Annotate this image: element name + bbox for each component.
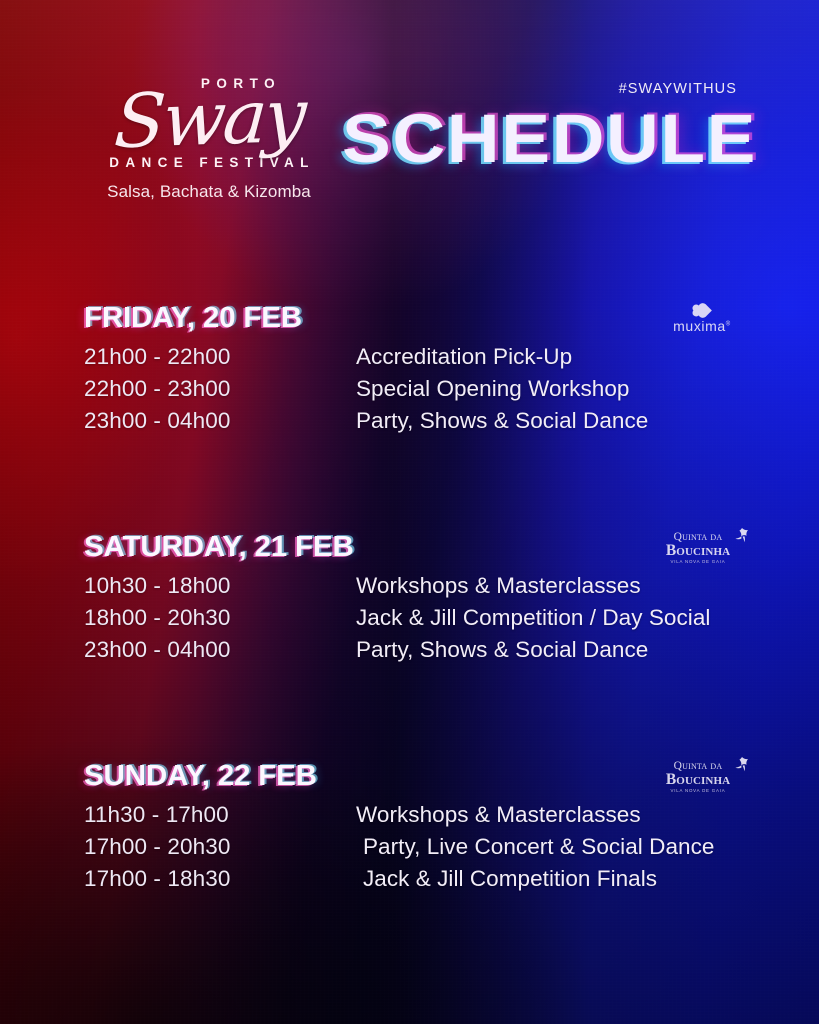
logo-sway-script: Sway — [71, 80, 347, 157]
logo-dance-styles-line: Salsa, Bachata & Kizomba — [74, 182, 344, 202]
festival-logo: PORTO Sway DANCE FESTIVAL Salsa, Bachata… — [74, 76, 344, 202]
day-rows: 11h30 - 17h00 Workshops & Masterclasses … — [0, 802, 819, 898]
sponsor-location-line: VILA NOVA DE GAIA — [655, 560, 741, 564]
sponsor-wordmark-top: Quinta da — [674, 760, 723, 772]
sponsor-line-quinta-da: Quinta da — [655, 761, 741, 773]
row-time: 22h00 - 23h00 — [84, 376, 230, 402]
row-activity: Jack & Jill Competition / Day Social — [356, 605, 710, 631]
row-time: 18h00 - 20h30 — [84, 605, 230, 631]
sponsor-wordmark-bottom: Boucinha — [655, 543, 741, 559]
schedule-row: 10h30 - 18h00 Workshops & Masterclasses — [0, 573, 819, 605]
row-activity: Party, Shows & Social Dance — [356, 637, 648, 663]
schedule-row: 17h00 - 20h30 Party, Live Concert & Soci… — [0, 834, 819, 866]
row-time: 17h00 - 20h30 — [84, 834, 230, 860]
schedule-row: 17h00 - 18h30 Jack & Jill Competition Fi… — [0, 866, 819, 898]
day-rows: 10h30 - 18h00 Workshops & Masterclasses … — [0, 573, 819, 669]
sponsor-wordmark-bottom: Boucinha — [655, 772, 741, 788]
day-heading: SATURDAY, 21 FEB — [84, 531, 354, 564]
festival-schedule-poster: PORTO Sway DANCE FESTIVAL Salsa, Bachata… — [0, 0, 819, 1024]
row-time: 17h00 - 18h30 — [84, 866, 230, 892]
row-activity: Special Opening Workshop — [356, 376, 629, 402]
row-activity: Party, Live Concert & Social Dance — [363, 834, 714, 860]
schedule-row: 23h00 - 04h00 Party, Shows & Social Danc… — [0, 408, 819, 440]
row-time: 23h00 - 04h00 — [84, 408, 230, 434]
poster-content: PORTO Sway DANCE FESTIVAL Salsa, Bachata… — [0, 0, 819, 1024]
row-activity: Party, Shows & Social Dance — [356, 408, 648, 434]
schedule-row: 11h30 - 17h00 Workshops & Masterclasses — [0, 802, 819, 834]
row-activity: Accreditation Pick-Up — [356, 344, 572, 370]
row-time: 23h00 - 04h00 — [84, 637, 230, 663]
row-time: 10h30 - 18h00 — [84, 573, 230, 599]
page-title: SCHEDULE — [342, 104, 757, 173]
sponsor-wordmark-top: Quinta da — [674, 531, 723, 543]
flower-flourish-icon — [734, 756, 750, 772]
day-heading: FRIDAY, 20 FEB — [84, 302, 302, 335]
row-activity: Workshops & Masterclasses — [356, 573, 641, 599]
row-activity: Jack & Jill Competition Finals — [363, 866, 657, 892]
day-heading: SUNDAY, 22 FEB — [84, 760, 317, 793]
sponsor-location-line: VILA NOVA DE GAIA — [655, 789, 741, 793]
sponsor-name-muxima: muxima® — [667, 318, 737, 334]
sponsor-logo-quinta-boucinha: Quinta da Boucinha VILA NOVA DE GAIA — [655, 761, 741, 793]
row-time: 11h30 - 17h00 — [84, 802, 229, 828]
sponsor-logo-quinta-boucinha: Quinta da Boucinha VILA NOVA DE GAIA — [655, 532, 741, 564]
trademark-mark: ® — [726, 321, 731, 327]
schedule-row: 21h00 - 22h00 Accreditation Pick-Up — [0, 344, 819, 376]
sponsor-logo-muxima: muxima® — [667, 304, 737, 334]
sponsor-wordmark: muxima — [673, 318, 726, 334]
schedule-row: 23h00 - 04h00 Party, Shows & Social Danc… — [0, 637, 819, 669]
schedule-row: 22h00 - 23h00 Special Opening Workshop — [0, 376, 819, 408]
double-heart-icon — [693, 304, 711, 317]
hashtag-label: #SWAYWITHUS — [619, 81, 737, 97]
day-rows: 21h00 - 22h00 Accreditation Pick-Up 22h0… — [0, 344, 819, 440]
sponsor-line-quinta-da: Quinta da — [655, 532, 741, 544]
row-activity: Workshops & Masterclasses — [356, 802, 641, 828]
schedule-row: 18h00 - 20h30 Jack & Jill Competition / … — [0, 605, 819, 637]
row-time: 21h00 - 22h00 — [84, 344, 230, 370]
flower-flourish-icon — [734, 527, 750, 543]
